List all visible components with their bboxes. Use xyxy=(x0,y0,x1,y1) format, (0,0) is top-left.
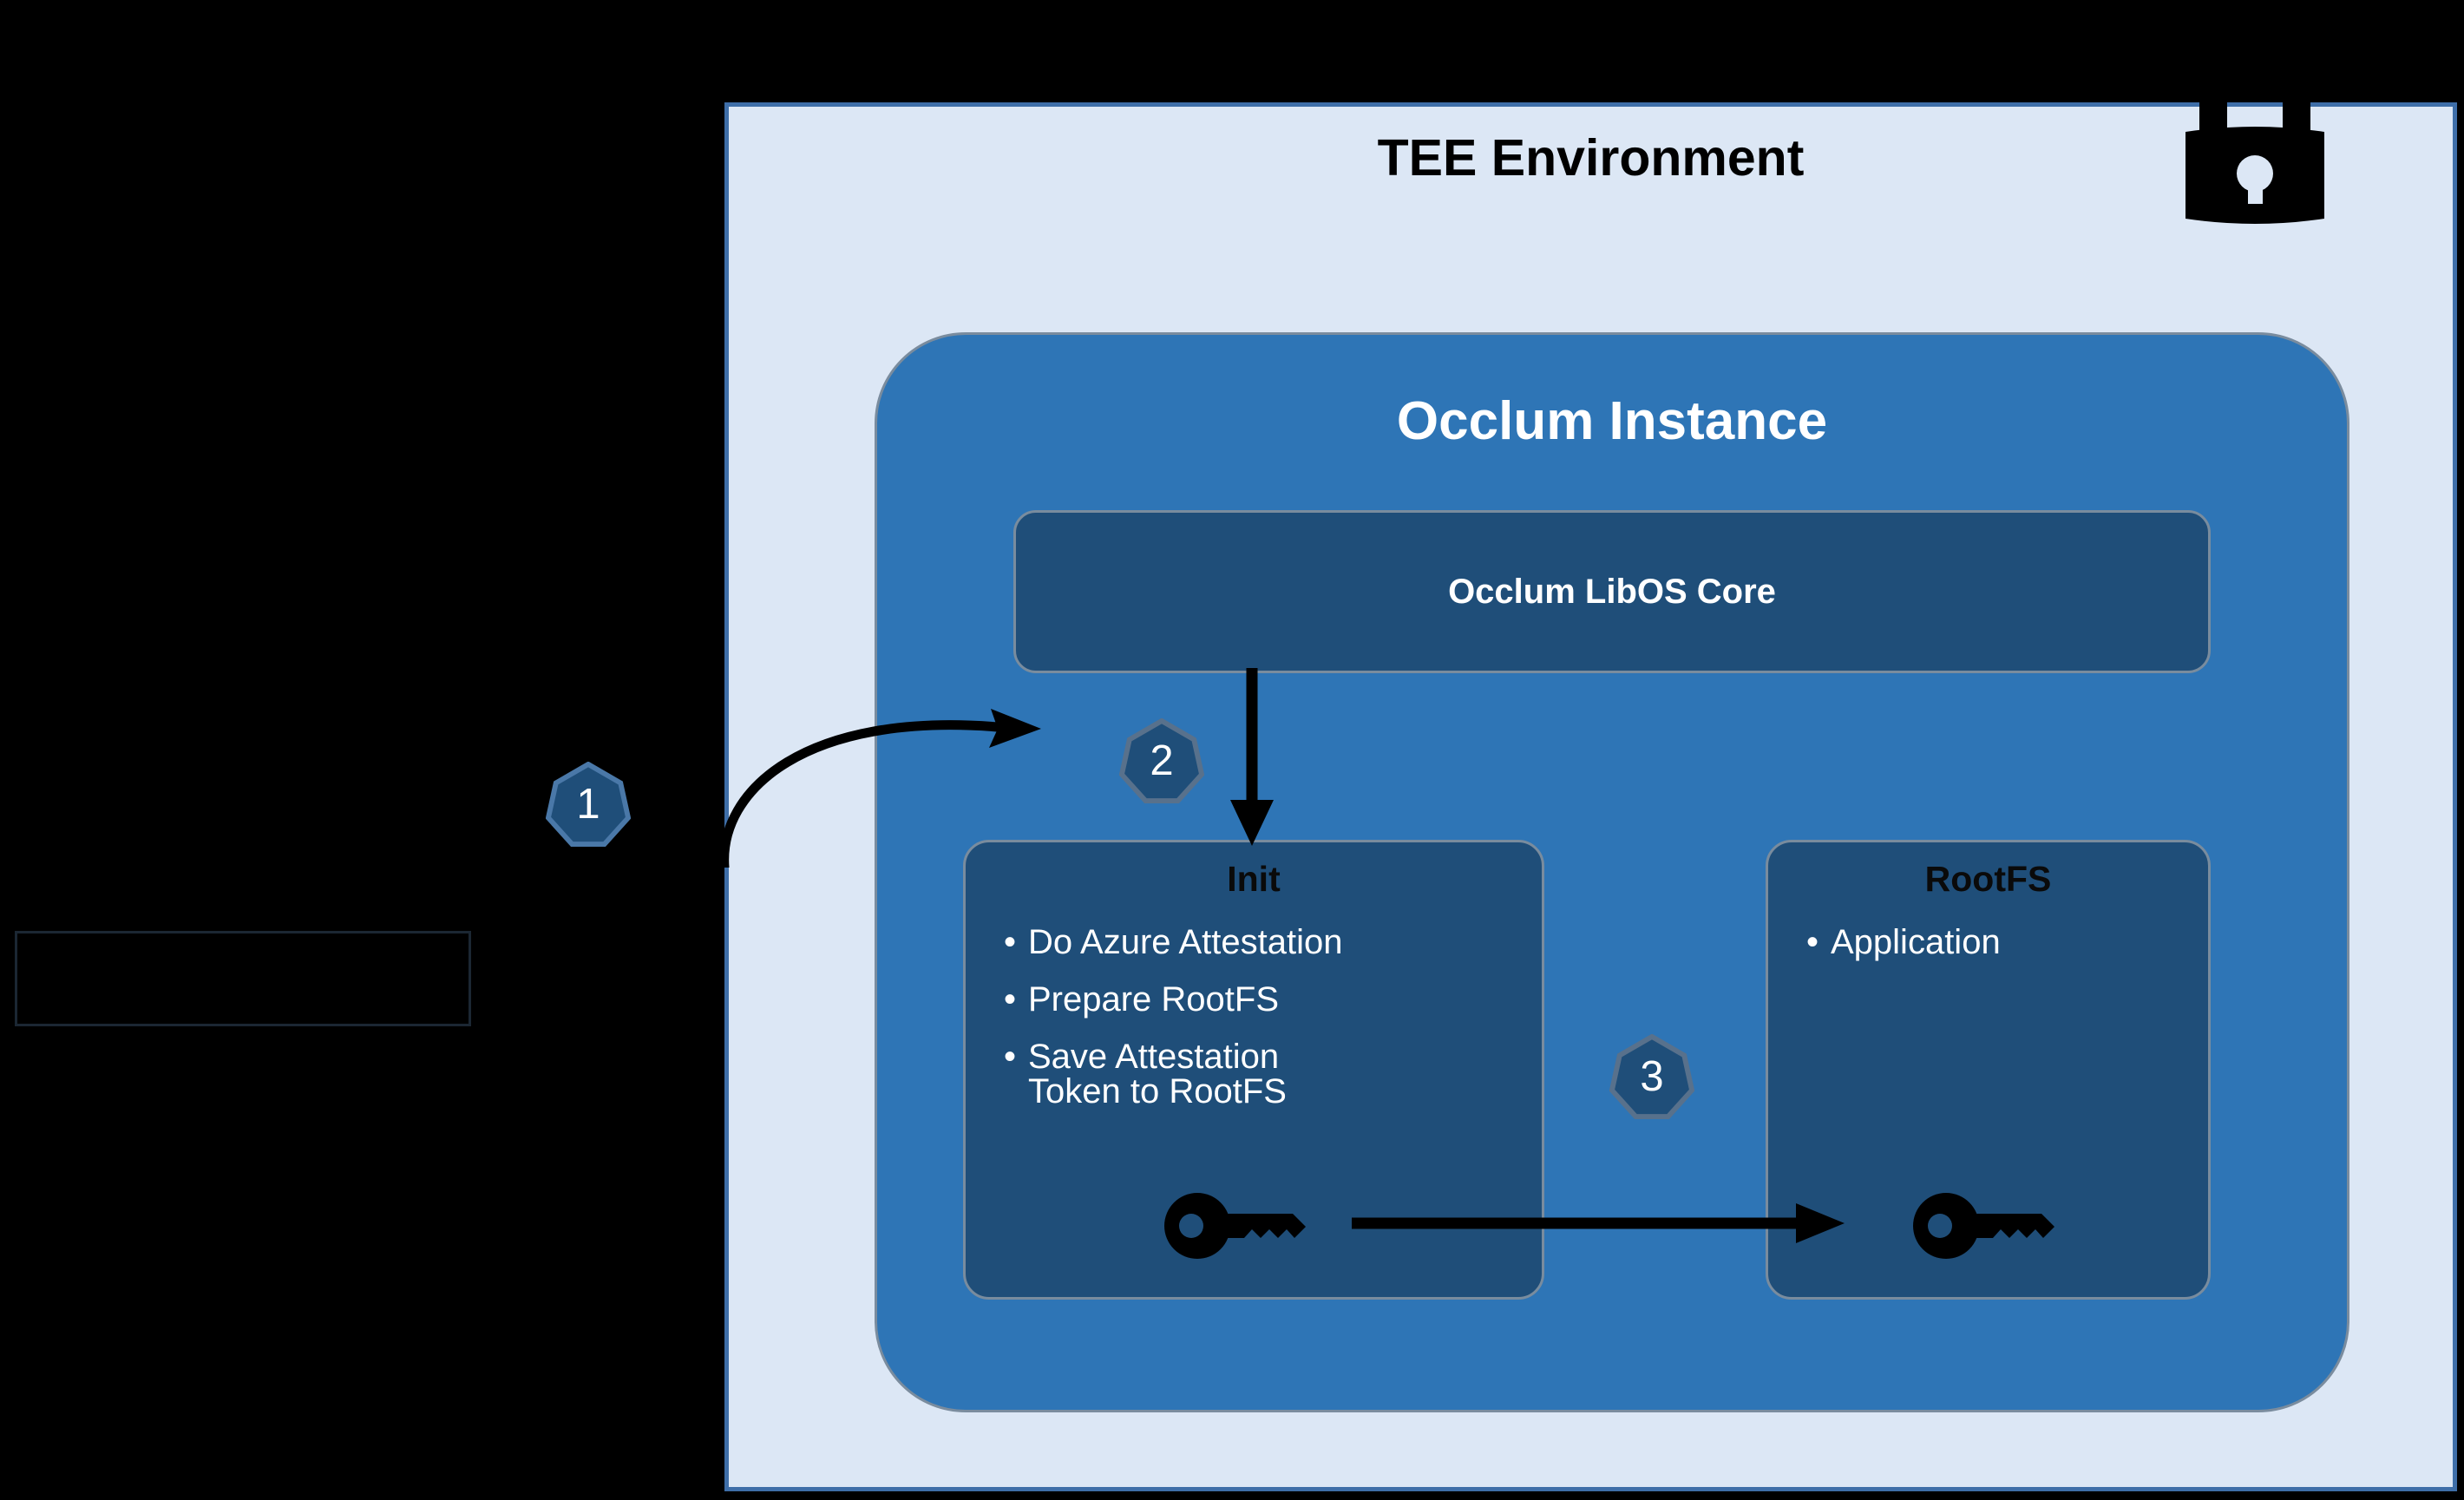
init-bullet-text: Save Attestation Token to RootFS xyxy=(1028,1039,1512,1109)
step-badge-1: 1 xyxy=(546,762,631,847)
diagram-canvas: TEE Environment Occlum Instance Occlum L… xyxy=(0,0,2464,1500)
init-title: Init xyxy=(966,859,1542,900)
list-item: • Save Attestation Token to RootFS xyxy=(992,1039,1512,1109)
bullet-icon: • xyxy=(992,982,1028,1017)
occlum-libos-core-label: Occlum LibOS Core xyxy=(1448,573,1776,612)
padlock-icon xyxy=(2166,80,2344,238)
rootfs-title: RootFS xyxy=(1768,859,2208,900)
bullet-icon: • xyxy=(992,925,1028,960)
list-item: • Prepare RootFS xyxy=(992,982,1512,1017)
step-badge-3-number: 3 xyxy=(1640,1053,1663,1100)
list-item: • Application xyxy=(1794,925,2193,960)
occlum-instance-title: Occlum Instance xyxy=(877,390,2347,452)
init-bullet-list: • Do Azure Attestation • Prepare RootFS … xyxy=(992,925,1512,1131)
occlum-libos-core-box: Occlum LibOS Core xyxy=(1013,510,2211,673)
step-badge-3: 3 xyxy=(1609,1034,1694,1119)
init-bullet-text: Do Azure Attestation xyxy=(1028,925,1512,960)
bullet-icon: • xyxy=(992,1039,1028,1074)
init-bullet-text: Prepare RootFS xyxy=(1028,982,1512,1017)
left-empty-box xyxy=(15,931,471,1026)
key-icon xyxy=(1913,1193,2066,1259)
list-item: • Do Azure Attestation xyxy=(992,925,1512,960)
step-badge-2-number: 2 xyxy=(1150,737,1173,784)
key-icon xyxy=(1164,1193,1317,1259)
step-badge-1-number: 1 xyxy=(576,781,600,828)
rootfs-bullet-list: • Application xyxy=(1794,925,2193,982)
step-badge-2: 2 xyxy=(1119,718,1204,803)
bullet-icon: • xyxy=(1794,925,1831,960)
rootfs-bullet-text: Application xyxy=(1831,925,2193,960)
